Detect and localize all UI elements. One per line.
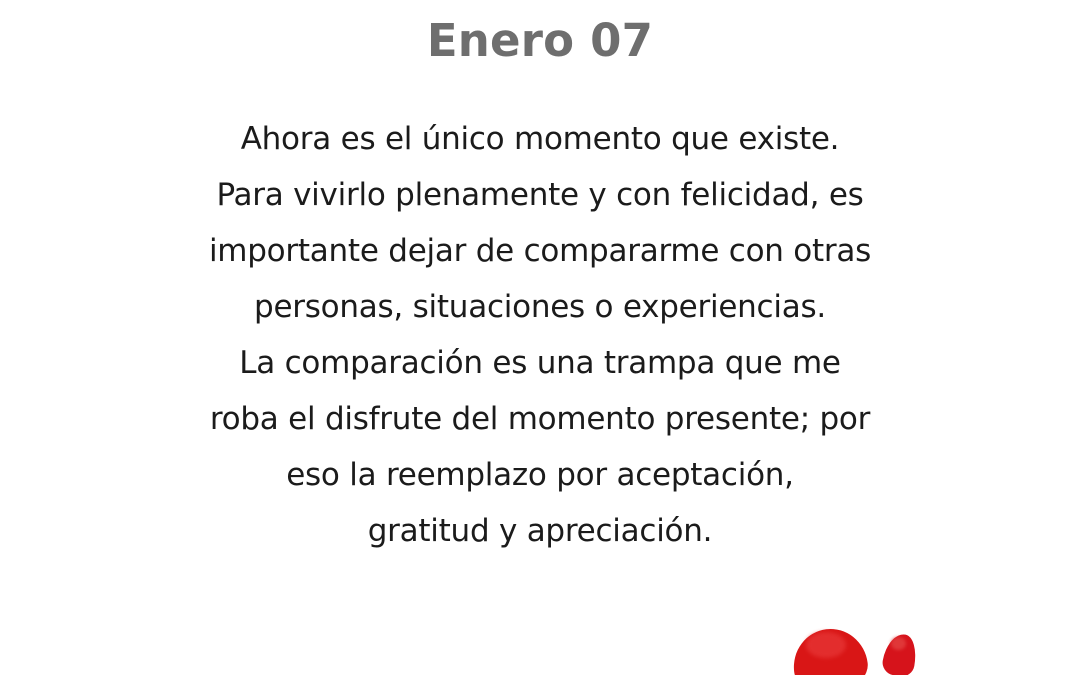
quote-line: Para vivirlo plenamente y con felicidad,… — [120, 167, 960, 223]
quote-line: importante dejar de compararme con otras — [120, 223, 960, 279]
quote-line: roba el disfrute del momento presente; p… — [120, 391, 960, 447]
red-heart-balloon-graphic — [0, 615, 1080, 675]
large-red-blob-highlight — [806, 632, 846, 658]
large-red-blob-icon — [789, 625, 870, 675]
top-edge-clipped-glyphs: . . — [0, 0, 1080, 7]
quote-card: . . Enero 07 Ahora es el único momento q… — [0, 0, 1080, 675]
quote-line: Ahora es el único momento que existe. — [120, 111, 960, 167]
quote-line: gratitud y apreciación. — [120, 503, 960, 559]
small-red-blob-highlight — [891, 637, 906, 650]
top-edge-ghost-text: . . — [0, 0, 1080, 7]
quote-line: La comparación es una trampa que me — [120, 335, 960, 391]
quote-line: personas, situaciones o experiencias. — [120, 279, 960, 335]
quote-text: Ahora es el único momento que existe. Pa… — [120, 111, 960, 559]
quote-line: eso la reemplazo por aceptación, — [120, 447, 960, 503]
small-red-blob-icon — [881, 632, 920, 675]
page-title: Enero 07 — [0, 14, 1080, 69]
